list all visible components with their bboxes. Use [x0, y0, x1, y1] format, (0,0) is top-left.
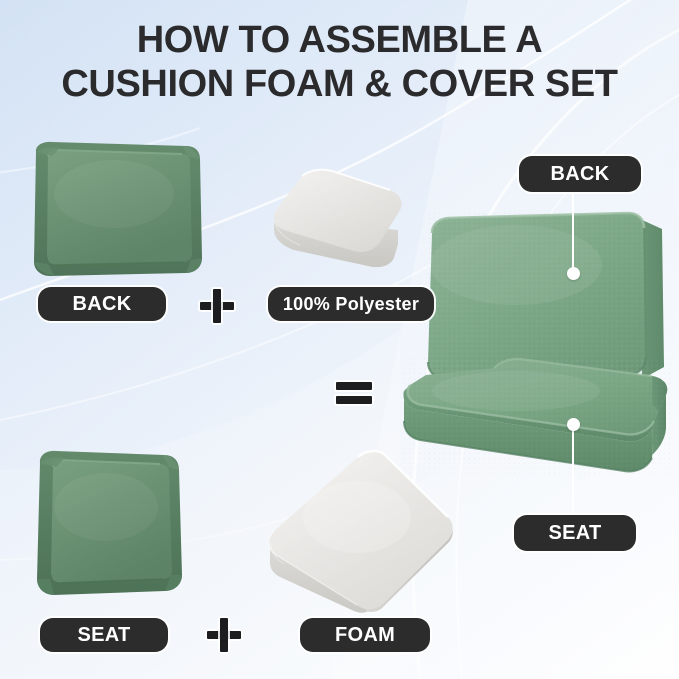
infographic-canvas: HOW TO ASSEMBLE A CUSHION FOAM & COVER S…: [0, 0, 679, 679]
label-seat-foam-text: FOAM: [335, 624, 395, 647]
plus-icon-top: [200, 289, 234, 323]
label-back-cover-text: BACK: [73, 293, 132, 316]
callout-line-seat: [572, 425, 574, 519]
callout-line-back: [572, 192, 574, 273]
label-assembled-back-text: BACK: [551, 163, 610, 186]
label-polyester-foam-text: 100% Polyester: [283, 294, 419, 315]
callout-dot-back-icon: [567, 267, 580, 280]
label-assembled-seat-text: SEAT: [548, 522, 601, 545]
title-line-1: HOW TO ASSEMBLE A: [0, 18, 679, 62]
label-seat-cover-text: SEAT: [77, 624, 130, 647]
page-title: HOW TO ASSEMBLE A CUSHION FOAM & COVER S…: [0, 18, 679, 107]
label-seat-cover: SEAT: [40, 618, 168, 652]
equals-icon: [336, 382, 372, 404]
callout-dot-seat-icon: [567, 418, 580, 431]
seat-cushion-cover-image: [26, 445, 191, 605]
label-back-cover: BACK: [38, 287, 166, 321]
label-polyester-foam: 100% Polyester: [268, 287, 434, 321]
seat-foam-insert-image: [262, 445, 462, 620]
label-assembled-seat: SEAT: [514, 515, 636, 551]
label-seat-foam: FOAM: [300, 618, 430, 652]
plus-icon-bottom: [207, 618, 241, 652]
label-assembled-back: BACK: [519, 156, 641, 192]
back-cushion-cover-image: [22, 136, 212, 286]
title-line-2: CUSHION FOAM & COVER SET: [0, 62, 679, 106]
assembled-cushion-set-image: [396, 205, 679, 475]
